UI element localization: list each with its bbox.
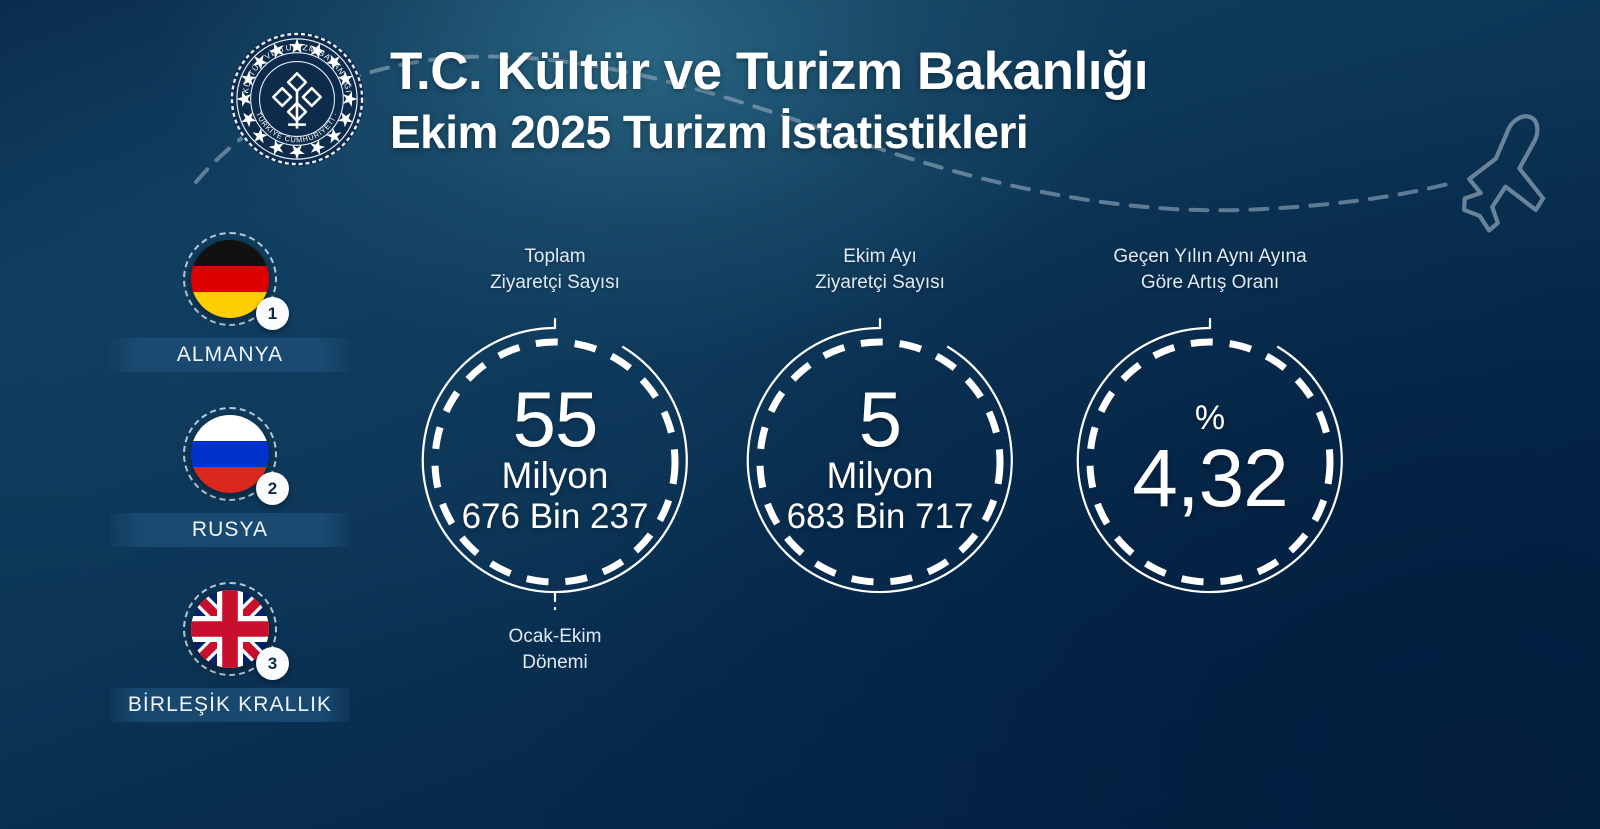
infographic-canvas: KÜLTÜR VE TURİZM BAKANLIĞI TÜRKİYE CUMHU…: [0, 0, 1600, 829]
percent-sign: %: [1195, 399, 1225, 437]
stat-ring: 5 Milyon 683 Bin 717: [730, 310, 1030, 610]
stat-value: 5: [859, 382, 901, 456]
country-label: RUSYA: [110, 513, 350, 547]
list-item[interactable]: 2 RUSYA: [110, 415, 350, 590]
page-subtitle: Ekim 2025 Turizm İstatistikleri: [390, 103, 1148, 161]
stat-unit: Milyon: [502, 456, 609, 496]
stat-caption-line1: Ekim Ayı: [715, 244, 1045, 270]
stat-footer-line2: Dönemi: [390, 650, 720, 676]
stat-value: 55: [513, 382, 598, 456]
stat-caption-line2: Göre Artış Oranı: [1045, 270, 1375, 296]
stat-total-visitors: Toplam Ziyaretçi Sayısı 55 Milyon 676 Bi…: [390, 244, 720, 676]
ministry-emblem: KÜLTÜR VE TURİZM BAKANLIĞI TÜRKİYE CUMHU…: [228, 30, 366, 168]
rank-badge: 1: [256, 297, 289, 330]
stat-caption-line1: Toplam: [390, 244, 720, 270]
stat-value-group: % 4,32: [1060, 310, 1360, 610]
top-countries-list: 1 ALMANYA 2 RUSYA: [110, 240, 350, 765]
title-block: T.C. Kültür ve Turizm Bakanlığı Ekim 202…: [390, 37, 1148, 161]
stat-caption-line2: Ziyaretçi Sayısı: [715, 270, 1045, 296]
list-item[interactable]: 3 BİRLEŞİK KRALLIK: [110, 590, 350, 765]
stat-value: 4,32: [1132, 437, 1288, 521]
rank-badge: 3: [256, 647, 289, 680]
stat-caption: Geçen Yılın Aynı Ayına Göre Artış Oranı: [1045, 244, 1375, 296]
header: KÜLTÜR VE TURİZM BAKANLIĞI TÜRKİYE CUMHU…: [228, 30, 1148, 168]
flag-wrapper: 3: [191, 590, 269, 668]
stat-caption-line1: Geçen Yılın Aynı Ayına: [1045, 244, 1375, 270]
rank-badge: 2: [256, 472, 289, 505]
list-item[interactable]: 1 ALMANYA: [110, 240, 350, 415]
stat-caption: Toplam Ziyaretçi Sayısı: [390, 244, 720, 296]
flag-wrapper: 1: [191, 240, 269, 318]
country-label: ALMANYA: [110, 338, 350, 372]
airplane-icon: [1442, 113, 1565, 236]
stat-footer-line1: Ocak-Ekim: [390, 624, 720, 650]
stat-caption-line2: Ziyaretçi Sayısı: [390, 270, 720, 296]
stat-caption: Ekim Ayı Ziyaretçi Sayısı: [715, 244, 1045, 296]
stat-growth-rate: Geçen Yılın Aynı Ayına Göre Artış Oranı …: [1045, 244, 1375, 610]
stat-footer: Ocak-Ekim Dönemi: [390, 624, 720, 676]
stat-ring: 55 Milyon 676 Bin 237: [405, 310, 705, 610]
flag-wrapper: 2: [191, 415, 269, 493]
stat-remainder: 676 Bin 237: [462, 496, 649, 538]
stat-ring: % 4,32: [1060, 310, 1360, 610]
stat-october-visitors: Ekim Ayı Ziyaretçi Sayısı 5 Milyon 683 B…: [715, 244, 1045, 610]
page-title: T.C. Kültür ve Turizm Bakanlığı: [390, 41, 1148, 103]
stat-value-group: 55 Milyon 676 Bin 237: [405, 310, 705, 610]
stat-value-group: 5 Milyon 683 Bin 717: [730, 310, 1030, 610]
stat-remainder: 683 Bin 717: [787, 496, 974, 538]
stat-unit: Milyon: [827, 456, 934, 496]
country-label: BİRLEŞİK KRALLIK: [110, 688, 350, 722]
